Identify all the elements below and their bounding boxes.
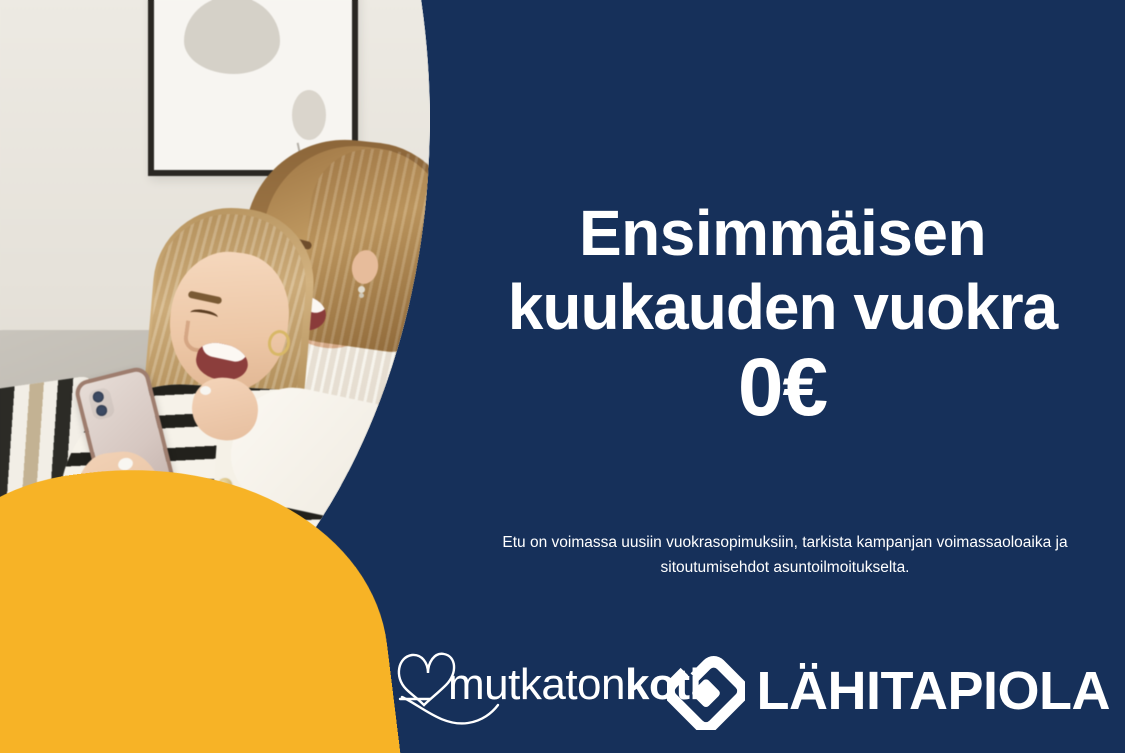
price-value: 0€: [440, 344, 1125, 432]
fingernail: [200, 386, 211, 395]
lahitapiola-spiral-diamond-icon: [667, 652, 745, 730]
fineprint-disclaimer: Etu on voimassa uusiin vuokrasopimuksiin…: [490, 530, 1080, 580]
headline: Ensimmäisen kuukauden vuokra: [440, 196, 1125, 344]
mutkatonkoti-wordmark: mutkatonkoti: [448, 659, 701, 711]
logo-row: mutkatonkoti LÄHITAPIOLA: [390, 638, 1110, 743]
headline-line-2: kuukauden vuokra: [440, 270, 1125, 344]
phone-camera-module: [87, 387, 116, 421]
mutkatonkoti-word-light: mutkaton: [448, 660, 625, 709]
woman-right-earring: [358, 286, 365, 293]
lahitapiola-wordmark: LÄHITAPIOLA: [757, 663, 1110, 719]
yellow-decorative-blob: [0, 439, 414, 753]
logo-lahitapiola[interactable]: LÄHITAPIOLA: [667, 641, 1110, 741]
advertisement-banner: Ensimmäisen kuukauden vuokra 0€ Etu on v…: [0, 0, 1125, 753]
logo-mutkatonkoti[interactable]: mutkatonkoti: [390, 641, 637, 741]
headline-line-1: Ensimmäisen: [440, 196, 1125, 270]
